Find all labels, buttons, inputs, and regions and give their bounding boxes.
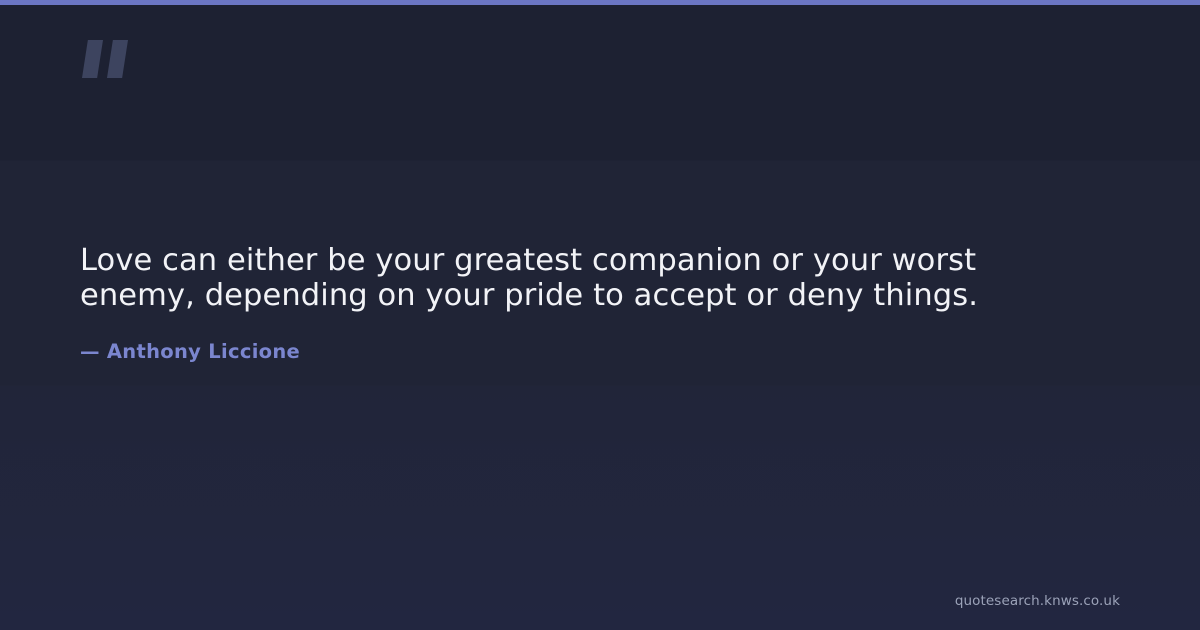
open-quote-icon (82, 40, 130, 78)
quote-text: Love can either be your greatest compani… (80, 243, 1040, 313)
quote-attribution: — Anthony Liccione (80, 340, 300, 363)
attribution-separator (100, 340, 107, 363)
top-accent-bar (0, 0, 1200, 5)
author-name: Anthony Liccione (107, 340, 300, 363)
site-watermark: quotesearch.knws.co.uk (955, 593, 1120, 609)
attribution-dash: — (80, 340, 100, 363)
quote-card: Love can either be your greatest compani… (0, 0, 1200, 630)
quote-mark-stroke-left (82, 40, 103, 78)
quote-mark-stroke-right (107, 40, 128, 78)
